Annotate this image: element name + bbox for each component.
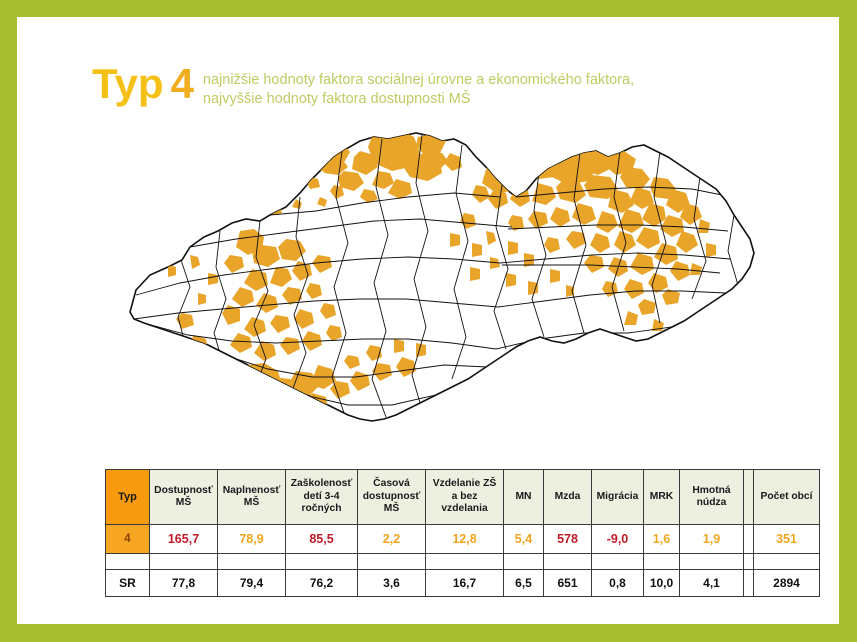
- header-cell-naplnenost: Naplnenosť MŠ: [218, 470, 286, 525]
- header-line: Migrácia: [593, 491, 642, 504]
- header-line: Mzda: [545, 491, 590, 504]
- indicators-table: Typ Dostupnosť MŠ Naplnenosť MŠ Zaškolen…: [105, 469, 820, 597]
- cell-sr-zaskolenost: 76,2: [286, 570, 358, 597]
- cell-vzdelanie: 12,8: [426, 525, 504, 554]
- header-line: Zaškolenosť: [287, 478, 356, 491]
- cell-type-label: 4: [106, 525, 150, 554]
- table-row-sr: SR 77,8 79,4 76,2 3,6 16,7 6,5 651 0,8 1…: [106, 570, 820, 597]
- cell-mrk: 1,6: [644, 525, 680, 554]
- blank-cell-spacer: [744, 554, 754, 570]
- slovakia-map-svg: [120, 127, 760, 437]
- header-line: ročných: [287, 503, 356, 516]
- header-line: núdza: [681, 497, 742, 510]
- cell-mn: 5,4: [504, 525, 544, 554]
- cell-sr-mn: 6,5: [504, 570, 544, 597]
- header-cell-hmotna: Hmotná núdza: [680, 470, 744, 525]
- header-line: MŠ: [359, 503, 424, 516]
- cell-sr-casova: 3,6: [358, 570, 426, 597]
- header-cell-mn: MN: [504, 470, 544, 525]
- blank-cell: [544, 554, 592, 570]
- header-line: MRK: [645, 491, 678, 504]
- cell-naplnenost: 78,9: [218, 525, 286, 554]
- header-line: MŠ: [151, 497, 216, 510]
- slovakia-district-map: [120, 127, 760, 437]
- header-line: detí 3-4: [287, 491, 356, 504]
- header-line: Časová: [359, 478, 424, 491]
- cell-spacer: [744, 525, 754, 554]
- blank-cell: [286, 554, 358, 570]
- header-cell-zaskolenost: Zaškolenosť detí 3-4 ročných: [286, 470, 358, 525]
- header-line: Hmotná: [681, 485, 742, 498]
- header-cell-spacer: [744, 470, 754, 525]
- cell-mzda: 578: [544, 525, 592, 554]
- blank-cell: [592, 554, 644, 570]
- page-subtitle: najnižšie hodnoty faktora sociálnej úrov…: [203, 71, 634, 109]
- page-subtitle-line-2: najvyššie hodnoty faktora dostupnosti MŠ: [203, 90, 634, 109]
- header-cell-mrk: MRK: [644, 470, 680, 525]
- cell-sr-dostupnost: 77,8: [150, 570, 218, 597]
- title-block: Typ 4 najnižšie hodnoty faktora sociálne…: [92, 62, 634, 109]
- cell-sr-mrk: 10,0: [644, 570, 680, 597]
- slide-canvas: Typ 4 najnižšie hodnoty faktora sociálne…: [17, 17, 839, 624]
- cell-sr-migracia: 0,8: [592, 570, 644, 597]
- blank-cell: [218, 554, 286, 570]
- cell-migracia: -9,0: [592, 525, 644, 554]
- cell-sr-vzdelanie: 16,7: [426, 570, 504, 597]
- blank-cell: [426, 554, 504, 570]
- cell-hmotna: 1,9: [680, 525, 744, 554]
- page-title-typ: Typ: [92, 62, 164, 106]
- blank-cell: [644, 554, 680, 570]
- blank-cell: [150, 554, 218, 570]
- header-line: dostupnosť: [359, 491, 424, 504]
- header-line: Vzdelanie ZŠ: [427, 478, 502, 491]
- indicators-table-wrapper: Typ Dostupnosť MŠ Naplnenosť MŠ Zaškolen…: [105, 469, 789, 597]
- blank-cell: [358, 554, 426, 570]
- header-cell-migracia: Migrácia: [592, 470, 644, 525]
- slide-frame: Typ 4 najnižšie hodnoty faktora sociálne…: [0, 0, 857, 642]
- table-row-type-4: 4 165,7 78,9 85,5 2,2 12,8 5,4 578 -9,0 …: [106, 525, 820, 554]
- page-subtitle-line-1: najnižšie hodnoty faktora sociálnej úrov…: [203, 71, 634, 90]
- header-cell-pocet: Počet obcí: [754, 470, 820, 525]
- page-title-number: 4: [171, 62, 194, 106]
- cell-casova: 2,2: [358, 525, 426, 554]
- header-cell-typ: Typ: [106, 470, 150, 525]
- header-line: MN: [505, 491, 542, 504]
- header-cell-mzda: Mzda: [544, 470, 592, 525]
- header-line: vzdelania: [427, 503, 502, 516]
- blank-cell: [504, 554, 544, 570]
- header-cell-dostupnost: Dostupnosť MŠ: [150, 470, 218, 525]
- cell-dostupnost: 165,7: [150, 525, 218, 554]
- header-cell-vzdelanie: Vzdelanie ZŠ a bez vzdelania: [426, 470, 504, 525]
- header-line: Naplnenosť: [219, 485, 284, 498]
- table-header-row: Typ Dostupnosť MŠ Naplnenosť MŠ Zaškolen…: [106, 470, 820, 525]
- cell-zaskolenost: 85,5: [286, 525, 358, 554]
- header-line: MŠ: [219, 497, 284, 510]
- blank-cell: [680, 554, 744, 570]
- table-blank-separator-row: [106, 554, 820, 570]
- cell-sr-hmotna: 4,1: [680, 570, 744, 597]
- blank-cell: [106, 554, 150, 570]
- header-line: Počet obcí: [755, 491, 818, 504]
- cell-sr-pocet: 2894: [754, 570, 820, 597]
- header-cell-casova: Časová dostupnosť MŠ: [358, 470, 426, 525]
- blank-cell: [754, 554, 820, 570]
- cell-sr-mzda: 651: [544, 570, 592, 597]
- cell-sr-naplnenost: 79,4: [218, 570, 286, 597]
- cell-sr-spacer: [744, 570, 754, 597]
- cell-pocet: 351: [754, 525, 820, 554]
- header-line: Typ: [107, 491, 148, 504]
- header-line: a bez: [427, 491, 502, 504]
- cell-sr-label: SR: [106, 570, 150, 597]
- header-line: Dostupnosť: [151, 485, 216, 498]
